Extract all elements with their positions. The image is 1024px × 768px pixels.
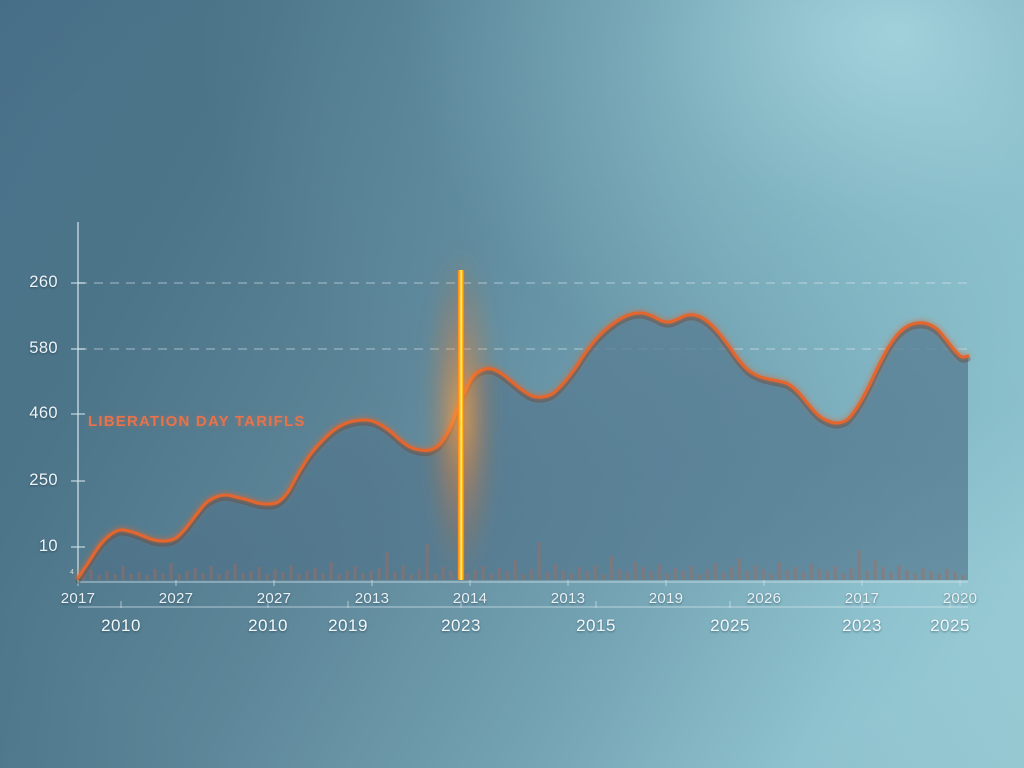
x-axis-tick-label-top: 2027	[257, 590, 292, 607]
volume-bar	[97, 575, 100, 580]
x-axis-tick-label-top: 2017	[61, 590, 96, 607]
volume-bar	[137, 572, 140, 580]
volume-bar	[129, 574, 132, 580]
volume-bar	[713, 563, 716, 580]
volume-bar	[625, 572, 628, 580]
x-axis-tick-label-bottom: 2010	[101, 616, 141, 636]
volume-bar	[649, 571, 652, 580]
volume-bar	[537, 542, 540, 580]
volume-bar	[313, 568, 316, 580]
volume-bar	[681, 571, 684, 580]
volume-bar	[241, 573, 244, 580]
volume-bar	[809, 564, 812, 580]
volume-bar	[497, 568, 500, 580]
volume-bar	[873, 560, 876, 580]
volume-bar	[601, 574, 604, 580]
volume-bar	[529, 569, 532, 580]
volume-bar	[521, 574, 524, 580]
x-axis-tick-label-bottom: 2025	[930, 616, 970, 636]
volume-bar	[849, 568, 852, 580]
volume-bar	[169, 563, 172, 580]
volume-bar	[937, 574, 940, 580]
volume-bar	[833, 566, 836, 580]
volume-bar	[193, 568, 196, 580]
volume-bar	[105, 571, 108, 580]
volume-bar	[905, 570, 908, 580]
volume-bar	[305, 571, 308, 580]
volume-bar	[113, 574, 116, 580]
volume-bar	[761, 569, 764, 580]
x-axis-tick-label-bottom: 2019	[328, 616, 368, 636]
volume-bar	[929, 571, 932, 580]
volume-bar	[857, 550, 860, 580]
volume-bar	[913, 573, 916, 580]
volume-bar	[841, 573, 844, 580]
volume-bar	[801, 572, 804, 580]
volume-bar	[377, 568, 380, 580]
volume-bar	[817, 569, 820, 580]
y-axis-tick-label: 10	[0, 537, 58, 556]
volume-bar	[321, 573, 324, 580]
volume-bar	[697, 574, 700, 580]
origin-tick-label: 4	[70, 569, 74, 576]
chart-canvas: 26058046025010 2017202720272013201420132…	[0, 0, 1024, 768]
volume-bar	[249, 571, 252, 580]
volume-bar	[889, 572, 892, 580]
volume-bar	[721, 572, 724, 580]
volume-bar	[369, 571, 372, 580]
volume-bar	[393, 572, 396, 580]
area-fill	[78, 313, 968, 580]
y-axis-tick-label: 580	[0, 339, 58, 358]
volume-bar	[385, 552, 388, 580]
volume-bar	[953, 572, 956, 580]
volume-bar	[361, 573, 364, 580]
volume-bar	[729, 567, 732, 580]
volume-bar	[577, 567, 580, 580]
volume-bar	[553, 564, 556, 580]
volume-bar	[513, 560, 516, 580]
volume-bar	[265, 574, 268, 580]
volume-bar	[297, 574, 300, 580]
volume-bar	[409, 574, 412, 580]
volume-bar	[609, 556, 612, 580]
x-axis-tick-label-top: 2020	[943, 590, 978, 607]
volume-bar	[273, 569, 276, 580]
volume-bar	[881, 567, 884, 580]
volume-bar	[145, 575, 148, 580]
x-axis-tick-label-bottom: 2015	[576, 616, 616, 636]
volume-bar	[673, 568, 676, 580]
volume-bar	[569, 573, 572, 580]
volume-bar	[177, 574, 180, 580]
x-axis-tick-label-bottom: 2025	[710, 616, 750, 636]
volume-bar	[897, 565, 900, 580]
volume-bar	[161, 573, 164, 580]
volume-bar	[329, 562, 332, 580]
volume-bar	[769, 573, 772, 580]
gridlines	[78, 283, 968, 349]
y-axis-tick-label: 250	[0, 471, 58, 490]
volume-bar	[753, 565, 756, 580]
volume-bar	[705, 569, 708, 580]
y-axis-tick-label: 260	[0, 273, 58, 292]
volume-bar	[585, 571, 588, 580]
volume-bar	[289, 565, 292, 580]
volume-bar	[201, 573, 204, 580]
volume-bar	[185, 571, 188, 580]
volume-bar	[337, 574, 340, 580]
volume-bar	[961, 575, 964, 580]
volume-bar	[633, 562, 636, 580]
volume-bar	[737, 558, 740, 580]
x-axis-tick-label-top: 2026	[747, 590, 782, 607]
volume-bar	[233, 564, 236, 580]
x-axis-tick-label-top: 2013	[551, 590, 586, 607]
volume-bar	[641, 567, 644, 580]
volume-bar	[505, 571, 508, 580]
volume-bar	[689, 566, 692, 580]
volume-bar	[89, 570, 92, 580]
volume-bar	[825, 571, 828, 580]
x-axis-tick-label-top: 2013	[355, 590, 390, 607]
event-marker-line[interactable]	[458, 270, 464, 580]
volume-bar	[945, 569, 948, 580]
volume-bar	[345, 570, 348, 580]
volume-bar	[401, 565, 404, 580]
volume-bar	[865, 571, 868, 580]
volume-bar	[545, 572, 548, 580]
volume-bar	[593, 565, 596, 580]
volume-bar	[209, 566, 212, 580]
x-axis-tick-label-top: 2019	[649, 590, 684, 607]
volume-bar	[353, 566, 356, 580]
x-axis-tick-label-bottom: 2023	[441, 616, 481, 636]
x-axis-tick-label-bottom: 2023	[842, 616, 882, 636]
x-axis-ticks-top	[78, 580, 960, 586]
volume-bar	[417, 569, 420, 580]
x-axis-tick-label-top: 2017	[845, 590, 880, 607]
chart-svg	[0, 0, 1024, 768]
volume-bar	[561, 570, 564, 580]
volume-bar	[745, 571, 748, 580]
volume-bar	[921, 568, 924, 580]
volume-bar	[785, 570, 788, 580]
volume-bar	[121, 566, 124, 580]
volume-bar	[777, 562, 780, 580]
volume-bar	[257, 567, 260, 580]
volume-bar	[617, 569, 620, 580]
x-axis-tick-label-top: 2027	[159, 590, 194, 607]
x-axis-tick-label-top: 2014	[453, 590, 488, 607]
x-axis-tick-label-bottom: 2010	[248, 616, 288, 636]
volume-bar	[281, 572, 284, 580]
volume-bar	[665, 573, 668, 580]
y-axis-tick-label: 460	[0, 404, 58, 423]
volume-bar	[657, 564, 660, 580]
event-annotation-label: LIBERATION DAY TARIFLS	[88, 413, 306, 430]
volume-bar	[217, 574, 220, 580]
volume-bar	[225, 570, 228, 580]
volume-bar	[153, 569, 156, 580]
volume-bar	[793, 567, 796, 580]
